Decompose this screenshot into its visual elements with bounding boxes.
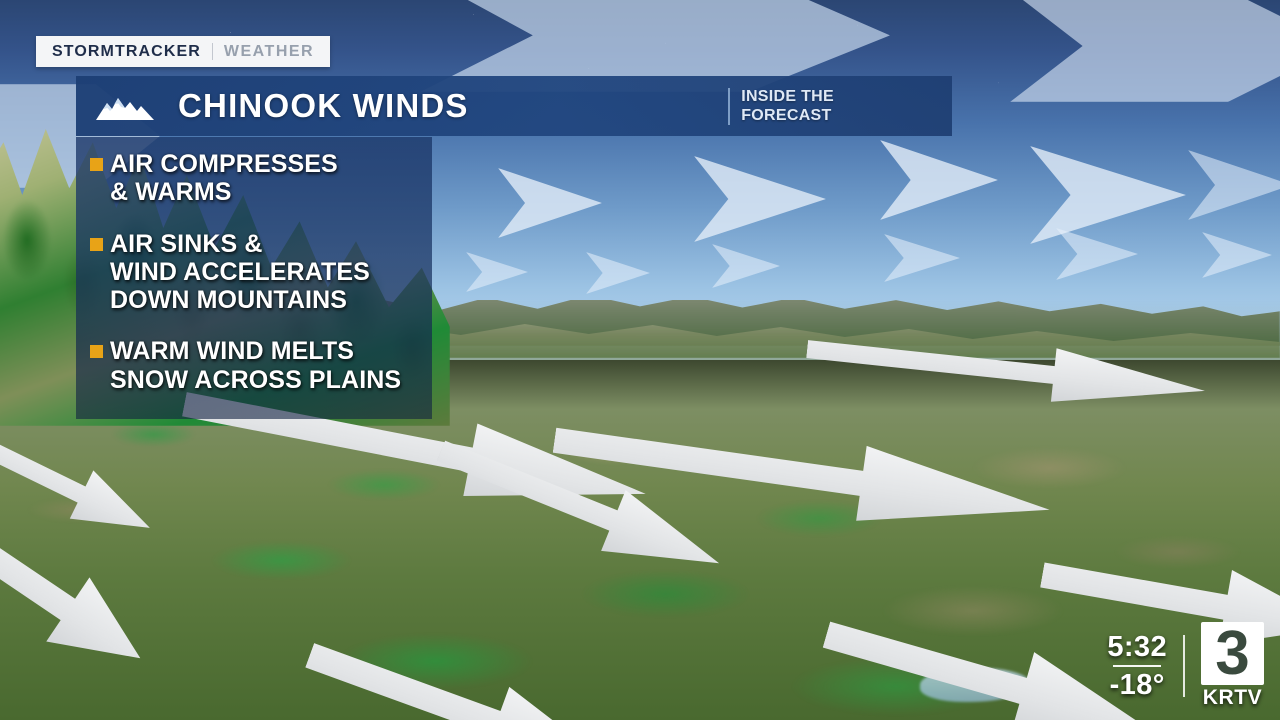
station-callsign: KRTV — [1201, 686, 1264, 710]
station-logo: 3 KRTV — [1201, 622, 1264, 710]
bullet-line: & WARMS — [110, 178, 232, 206]
page-title: CHINOOK WINDS — [178, 87, 469, 125]
bullet-text: WARM WIND MELTS SNOW ACROSS PLAINS — [110, 337, 401, 394]
bullet-item: AIR SINKS & WIND ACCELERATES DOWN MOUNTA… — [90, 230, 422, 315]
bullet-line: DOWN MOUNTAINS — [110, 286, 347, 314]
segment-line-2: FORECAST — [741, 107, 831, 124]
bullet-square-icon — [90, 238, 103, 251]
time-temp-divider — [1113, 665, 1161, 667]
broadcast-weather-graphic: STORMTRACKER WEATHER CHINOOK WINDS INSID… — [0, 0, 1280, 720]
segment-divider — [728, 88, 730, 125]
channel-number-box: 3 — [1201, 622, 1264, 685]
channel-number: 3 — [1215, 626, 1249, 682]
bullet-text: AIR SINKS & WIND ACCELERATES DOWN MOUNTA… — [110, 230, 370, 315]
station-bug: 5:32 -18° 3 KRTV — [1107, 622, 1264, 710]
stormtracker-weather-badge: STORMTRACKER WEATHER — [36, 36, 330, 67]
graphic-title-bar: CHINOOK WINDS INSIDE THE FORECAST — [76, 76, 952, 136]
current-time: 5:32 — [1107, 631, 1167, 664]
badge-primary-label: STORMTRACKER — [52, 43, 201, 61]
badge-secondary-label: WEATHER — [224, 43, 314, 61]
key-points-panel: AIR COMPRESSES & WARMS AIR SINKS & WIND … — [76, 137, 432, 419]
badge-divider — [212, 43, 213, 60]
bullet-line: AIR COMPRESSES — [110, 150, 338, 178]
bullet-line: WARM WIND MELTS — [110, 337, 354, 365]
inside-the-forecast-segment: INSIDE THE FORECAST — [728, 88, 834, 126]
current-temperature: -18° — [1107, 669, 1167, 702]
bug-divider — [1183, 635, 1185, 697]
bullet-text: AIR COMPRESSES & WARMS — [110, 150, 338, 207]
mountain-icon — [94, 89, 156, 123]
bullet-square-icon — [90, 158, 103, 171]
bullet-item: WARM WIND MELTS SNOW ACROSS PLAINS — [90, 337, 422, 394]
bullet-square-icon — [90, 345, 103, 358]
bullet-line: AIR SINKS & — [110, 230, 263, 258]
bullet-line: WIND ACCELERATES — [110, 258, 370, 286]
segment-label: INSIDE THE FORECAST — [741, 88, 834, 126]
bullet-line: SNOW ACROSS PLAINS — [110, 366, 401, 394]
time-temp-block: 5:32 -18° — [1107, 631, 1167, 702]
bullet-item: AIR COMPRESSES & WARMS — [90, 150, 422, 207]
segment-line-1: INSIDE THE — [741, 88, 834, 105]
